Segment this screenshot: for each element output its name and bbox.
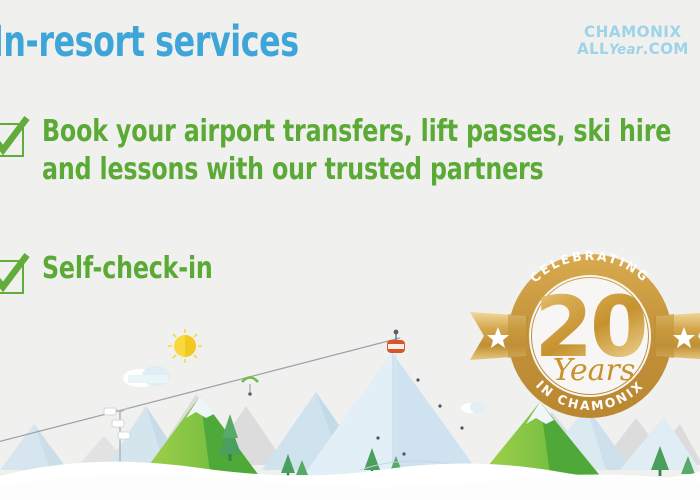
logo-com-text: .COM xyxy=(643,39,689,58)
logo-line-2: ALLYear.COM xyxy=(577,41,689,57)
seal-years-label: Years xyxy=(553,353,636,388)
bullet-line: Self-check-in xyxy=(42,250,213,288)
bullet-text-services: Book your airport transfers, lift passes… xyxy=(42,113,671,190)
bullet-line: Book your airport transfers, lift passes… xyxy=(42,113,671,151)
chamonix-all-year-logo[interactable]: CHAMONIX ALLYear.COM xyxy=(574,24,692,57)
checkbox-checked-icon xyxy=(0,254,30,296)
checkbox-checked-icon xyxy=(0,117,30,159)
logo-all-text: ALL xyxy=(577,39,609,58)
logo-year-text: Year xyxy=(609,42,643,58)
page-title: In-resort services xyxy=(0,17,299,67)
bullet-text-self-check-in: Self-check-in xyxy=(42,250,213,288)
bullet-line: and lessons with our trusted partners xyxy=(42,151,671,189)
ribbon-right xyxy=(654,312,700,360)
20-year-anniversary-seal: CELEBRATING IN CHAMONIX 20 Years xyxy=(482,228,700,428)
slide-root: In-resort services CHAMONIX ALLYear.COM … xyxy=(0,0,700,500)
bullet-item-services: Book your airport transfers, lift passes… xyxy=(0,113,700,190)
logo-line-1: CHAMONIX xyxy=(577,24,689,40)
bullet-item-self-check-in: Self-check-in xyxy=(0,250,236,296)
